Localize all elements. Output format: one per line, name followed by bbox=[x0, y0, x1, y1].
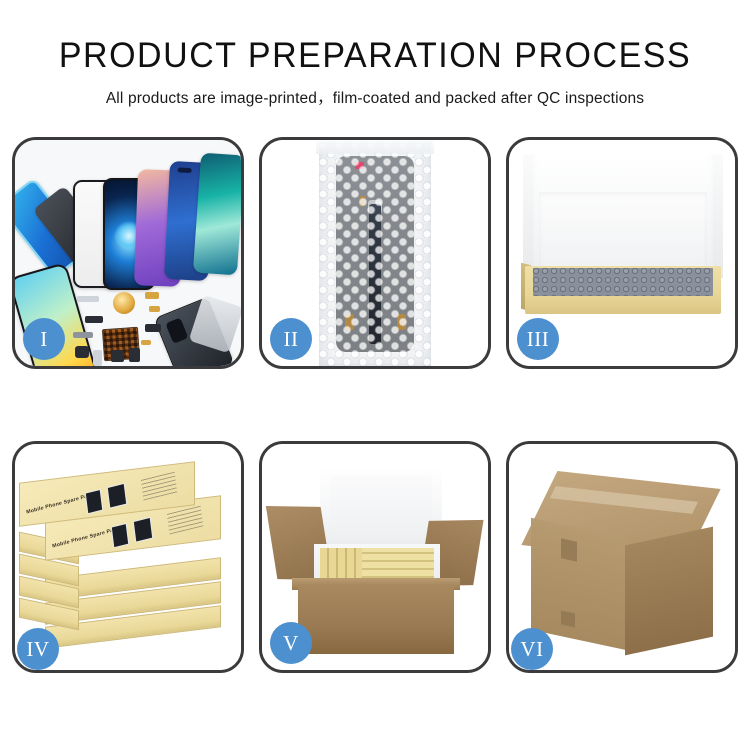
product-preparation-page: PRODUCT PREPARATION PROCESS All products… bbox=[0, 0, 750, 750]
phone-notch-icon bbox=[178, 167, 192, 173]
carton-side-face-icon bbox=[625, 527, 713, 656]
label-sticker-icon bbox=[355, 162, 364, 169]
step-badge-1: I bbox=[23, 318, 65, 360]
carton-seam-tab-icon bbox=[561, 538, 577, 561]
step-badge-4: IV bbox=[17, 628, 59, 670]
phone-teal-screen-icon bbox=[193, 153, 241, 276]
step-panel-3[interactable]: III bbox=[506, 137, 738, 369]
buzzer-part-icon bbox=[111, 350, 124, 362]
box-spec-lines-icon bbox=[141, 471, 177, 501]
foam-sheet-icon bbox=[539, 192, 707, 270]
carton-body-icon bbox=[298, 584, 454, 654]
gold-contact-icon bbox=[359, 196, 366, 206]
sim-tray-part-icon bbox=[93, 350, 102, 366]
page-title: PRODUCT PREPARATION PROCESS bbox=[11, 36, 739, 76]
flex-cable-icon bbox=[369, 204, 381, 344]
step-panel-6[interactable]: VI bbox=[506, 441, 738, 673]
box-product-image-icon bbox=[107, 483, 128, 509]
process-steps-grid: I II bbox=[12, 137, 739, 682]
bubble-wrap-inside-icon bbox=[533, 268, 713, 296]
gold-contact-icon bbox=[345, 314, 354, 330]
step-panel-4[interactable]: Mobile Phone Spare Parts Mobile Phone Sp… bbox=[12, 441, 244, 673]
step-panel-5[interactable]: V bbox=[259, 441, 491, 673]
small-part-icon bbox=[73, 332, 93, 338]
step-badge-2: II bbox=[270, 318, 312, 360]
carton-front-face-icon bbox=[531, 518, 627, 650]
bubble-wrap-bag-icon bbox=[319, 142, 431, 366]
step-panel-1[interactable]: I bbox=[12, 137, 244, 369]
box-spec-lines-icon bbox=[167, 505, 203, 535]
bag-seal-icon bbox=[316, 140, 434, 154]
foam-lid-open-icon bbox=[320, 466, 442, 552]
step-badge-3: III bbox=[517, 318, 559, 360]
small-part-icon bbox=[77, 296, 99, 302]
flex-cable-part-icon bbox=[149, 306, 160, 312]
step-panel-2[interactable]: II bbox=[259, 137, 491, 369]
vibrator-part-icon bbox=[129, 348, 140, 362]
box-product-image-icon bbox=[85, 489, 104, 514]
header: PRODUCT PREPARATION PROCESS All products… bbox=[0, 0, 750, 108]
step-badge-6: VI bbox=[511, 628, 553, 670]
screw-part-icon bbox=[141, 340, 151, 345]
flex-cable-part-icon bbox=[145, 292, 159, 299]
step-badge-5: V bbox=[270, 622, 312, 664]
page-subtitle: All products are image-printed，film-coat… bbox=[0, 86, 750, 108]
carton-seam-tab-icon bbox=[561, 611, 575, 628]
small-part-icon bbox=[145, 324, 161, 332]
speaker-coil-part-icon bbox=[113, 292, 135, 314]
box-product-image-icon bbox=[111, 523, 130, 548]
box-product-image-icon bbox=[133, 517, 154, 543]
small-part-icon bbox=[85, 316, 103, 323]
camera-part-icon bbox=[75, 346, 89, 358]
gold-contact-icon bbox=[397, 314, 406, 330]
